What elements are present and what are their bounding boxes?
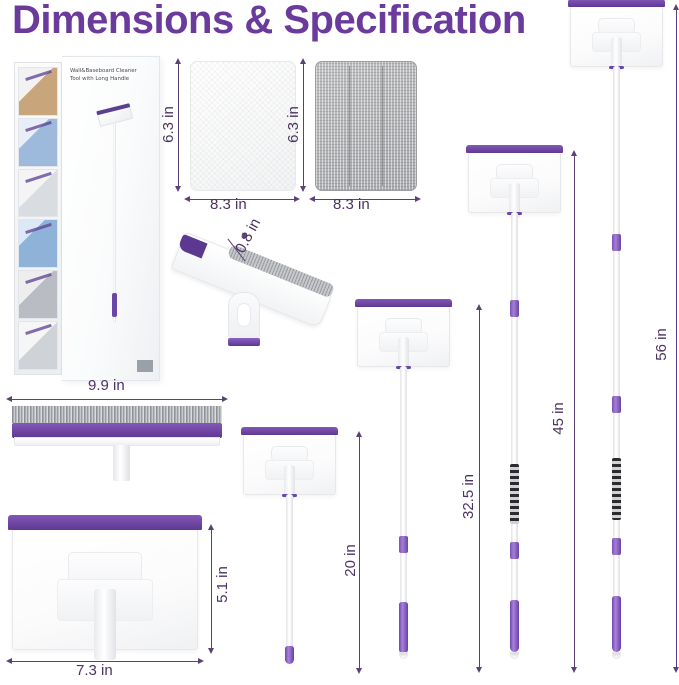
- pole-45in-length-label: 45 in: [550, 402, 567, 435]
- scrubbing-pad-gray: [315, 61, 417, 191]
- microfiber-pad-white: [190, 61, 296, 191]
- swivel-collar: [228, 338, 260, 346]
- pad-white-height-label: 6.3 in: [160, 106, 177, 143]
- mop-head-front: [12, 528, 198, 650]
- box-usage-photo: [18, 118, 58, 167]
- mop-head-pole-32_5in: [357, 306, 450, 367]
- scrub-brush-attachment: [12, 406, 222, 484]
- box-product-illustration: [92, 97, 136, 362]
- pole-collar: [612, 538, 621, 555]
- brush-purple-bar: [12, 423, 222, 438]
- pole-45in: [511, 212, 518, 670]
- brush-bristles: [12, 406, 222, 423]
- arrow-down-icon: [476, 667, 482, 673]
- arrow-up-icon: [356, 431, 362, 437]
- dim-line-pole-56in: [676, 10, 677, 667]
- arrow-right-icon: [415, 196, 421, 202]
- arrow-right-icon: [294, 196, 300, 202]
- box-usage-photo: [18, 67, 58, 116]
- pole-collar: [612, 234, 621, 251]
- pole-end-cap: [399, 652, 408, 659]
- arrow-down-icon: [356, 668, 362, 674]
- mop-head-purple-lip: [241, 427, 338, 435]
- box-caption: Wall&Baseboard Cleaner Tool with Long Ha…: [70, 67, 154, 83]
- pole-56in-length-label: 56 in: [653, 328, 670, 361]
- pole-handle-grip: [612, 596, 621, 652]
- pole-shaft: [613, 66, 620, 652]
- arrow-up-icon: [476, 304, 482, 310]
- mop-head-purple-lip: [568, 0, 665, 7]
- pole-shaft: [511, 212, 518, 652]
- mop-head-purple-lip: [355, 299, 452, 307]
- pad-gray-height-label: 6.3 in: [285, 106, 302, 143]
- pad-white-width-label: 8.3 in: [210, 196, 247, 213]
- arrow-down-icon: [208, 648, 214, 654]
- arrow-up-icon: [673, 4, 679, 10]
- swivel-purple-tip: [177, 234, 207, 259]
- mop-head-pole-45in: [468, 152, 561, 213]
- arrow-left-icon: [184, 196, 190, 202]
- arrow-down-icon: [300, 186, 306, 192]
- pole-end-cap: [612, 652, 621, 659]
- dim-line-pole-20in: [359, 437, 360, 668]
- mop-head-pole-56in: [570, 6, 663, 67]
- pole-handle-grip: [510, 600, 519, 652]
- pole-collar: [510, 542, 519, 559]
- box-usage-photo: [18, 219, 58, 268]
- pole-32_5in-length-label: 32.5 in: [460, 474, 477, 519]
- arrow-down-icon: [175, 186, 181, 192]
- brush-width-label: 9.9 in: [88, 377, 125, 394]
- dim-line-pole-45in: [574, 156, 575, 667]
- pole-end-cap: [510, 652, 519, 659]
- pole-collar: [510, 300, 519, 317]
- box-caption-line-1: Wall&Baseboard Cleaner: [70, 67, 154, 75]
- arrow-down-icon: [673, 667, 679, 673]
- mop-head-height-label: 5.1 in: [214, 566, 231, 603]
- box-barcode: [137, 360, 153, 372]
- dim-line-brush-width: [12, 399, 222, 400]
- arrow-down-icon: [571, 667, 577, 673]
- box-usage-photo: [18, 169, 58, 218]
- arrow-up-icon: [571, 150, 577, 156]
- pole-collar: [399, 536, 408, 553]
- dim-line-mop-head-height: [211, 530, 212, 648]
- mop-head-purple-lip: [8, 515, 201, 531]
- arrow-up-icon: [175, 58, 181, 64]
- arrow-right-icon: [222, 396, 228, 402]
- mop-head-neck: [94, 589, 116, 660]
- mop-head-width-label: 7.3 in: [76, 662, 113, 679]
- box-side-panel: [14, 62, 62, 375]
- arrow-up-icon: [300, 58, 306, 64]
- pole-56in: [613, 66, 620, 670]
- page-title: Dimensions & Specification: [12, 0, 526, 43]
- pole-handle-grip: [285, 646, 294, 664]
- box-product-grip: [112, 293, 117, 317]
- pole-32_5in: [400, 366, 407, 670]
- box-front-panel: Wall&Baseboard Cleaner Tool with Long Ha…: [62, 56, 160, 381]
- pole-ribbed-grip: [612, 458, 621, 520]
- box-caption-line-2: Tool with Long Handle: [70, 75, 154, 83]
- box-usage-photo: [18, 321, 58, 370]
- swivel-cleaning-head: [172, 216, 352, 366]
- arrow-right-icon: [198, 658, 204, 664]
- product-box: Wall&Baseboard Cleaner Tool with Long Ha…: [14, 56, 162, 381]
- pole-20in: [286, 494, 293, 670]
- arrow-left-icon: [6, 396, 12, 402]
- pole-collar: [612, 396, 621, 413]
- dim-line-pad-white-height: [178, 64, 179, 186]
- arrow-left-icon: [309, 196, 315, 202]
- dim-line-pole-32_5in: [479, 310, 480, 667]
- mop-head-purple-lip: [466, 145, 563, 153]
- brush-stem: [113, 445, 130, 481]
- arrow-left-icon: [6, 658, 12, 664]
- pole-20in-length-label: 20 in: [342, 544, 359, 577]
- pole-handle-grip: [399, 602, 408, 654]
- dim-line-pad-gray-height: [303, 64, 304, 186]
- mop-head-pole-20in: [243, 434, 336, 495]
- pad-gray-width-label: 8.3 in: [333, 196, 370, 213]
- pole-ribbed-grip: [510, 464, 519, 524]
- infographic-canvas: Dimensions & Specification Wall&Baseboar…: [0, 0, 679, 685]
- box-usage-photo: [18, 270, 58, 319]
- swivel-yoke-hole: [237, 303, 251, 327]
- pole-shaft: [286, 494, 293, 652]
- swivel-yoke: [228, 292, 260, 340]
- arrow-up-icon: [208, 524, 214, 530]
